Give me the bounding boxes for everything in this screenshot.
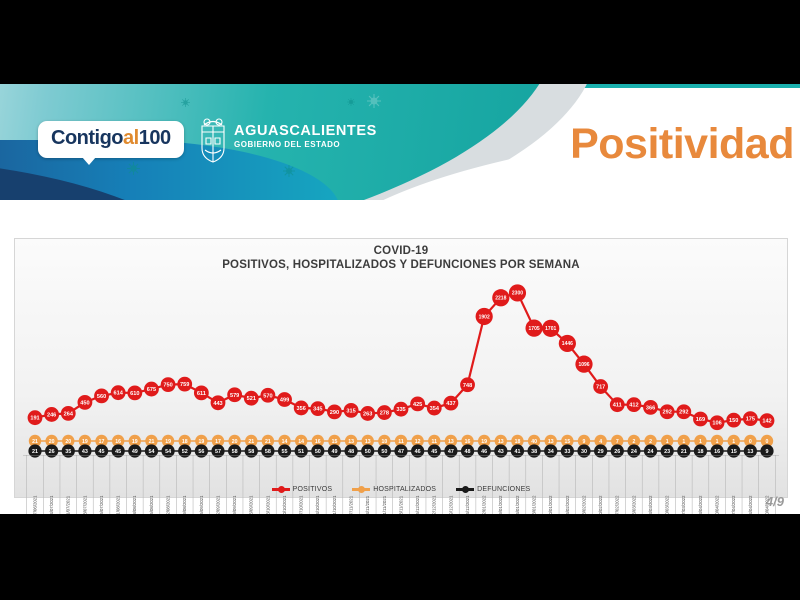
svg-text:366: 366 — [646, 405, 655, 411]
svg-text:14: 14 — [298, 439, 304, 445]
svg-text:437: 437 — [446, 401, 455, 407]
legend-item-defunciones[interactable]: DEFUNCIONES — [456, 486, 530, 493]
svg-text:7: 7 — [616, 439, 619, 445]
svg-text:1446: 1446 — [562, 341, 573, 347]
svg-text:290: 290 — [330, 410, 339, 416]
svg-text:1: 1 — [699, 439, 702, 445]
svg-text:21: 21 — [32, 439, 38, 445]
svg-text:292: 292 — [663, 410, 672, 416]
svg-text:2300: 2300 — [512, 291, 523, 297]
series-positivos: 1912462644505606146106757507596114435795… — [28, 284, 775, 430]
presentation-slide: Contigoal100 AGUASCALIENTES GOBIERNO DEL… — [0, 84, 800, 514]
svg-text:0: 0 — [749, 439, 752, 445]
svg-text:610: 610 — [130, 391, 139, 397]
svg-text:13: 13 — [548, 439, 554, 445]
svg-text:20: 20 — [232, 439, 238, 445]
svg-text:9: 9 — [583, 439, 586, 445]
slide-footer — [14, 498, 786, 512]
svg-text:499: 499 — [280, 397, 289, 403]
svg-text:106: 106 — [712, 421, 721, 427]
svg-text:191: 191 — [30, 416, 39, 422]
svg-text:759: 759 — [180, 382, 189, 388]
svg-text:19: 19 — [481, 439, 487, 445]
svg-text:21: 21 — [265, 439, 271, 445]
svg-text:20: 20 — [65, 439, 71, 445]
legend-label-defunciones: DEFUNCIONES — [477, 486, 530, 493]
svg-text:356: 356 — [297, 406, 306, 412]
svg-text:425: 425 — [413, 402, 422, 408]
svg-text:17: 17 — [215, 439, 221, 445]
svg-text:521: 521 — [247, 396, 256, 402]
svg-text:10: 10 — [381, 439, 387, 445]
svg-text:264: 264 — [64, 411, 74, 417]
svg-text:579: 579 — [230, 393, 239, 399]
svg-text:748: 748 — [463, 383, 472, 389]
svg-text:2218: 2218 — [495, 296, 506, 302]
chart-panel: COVID-19 POSITIVOS, HOSPITALIZADOS Y DEF… — [14, 238, 788, 498]
virus-icon — [181, 98, 190, 107]
chart-subtitle: POSITIVOS, HOSPITALIZADOS Y DEFUNCIONES … — [15, 259, 787, 271]
legend-swatch-hospitalizados — [352, 488, 370, 491]
svg-text:345: 345 — [313, 407, 322, 413]
virus-icon — [347, 98, 355, 106]
svg-text:16: 16 — [115, 439, 121, 445]
series-canvas: 2120201917161921191819172021211414161513… — [23, 283, 779, 459]
svg-text:354: 354 — [430, 406, 440, 412]
government-wordmark: AGUASCALIENTES GOBIERNO DEL ESTADO — [234, 124, 377, 150]
virus-icon — [283, 165, 295, 177]
svg-text:12: 12 — [415, 439, 421, 445]
svg-text:750: 750 — [163, 383, 172, 389]
legend-swatch-positivos — [272, 488, 290, 491]
svg-text:1705: 1705 — [529, 326, 540, 332]
svg-text:1: 1 — [682, 439, 685, 445]
chart-legend: POSITIVOS HOSPITALIZADOS DEFUNCIONES — [15, 486, 787, 493]
logo-text-100: 100 — [139, 127, 171, 149]
svg-text:19: 19 — [198, 439, 204, 445]
svg-text:21: 21 — [248, 439, 254, 445]
svg-text:1: 1 — [666, 439, 669, 445]
virus-icon — [367, 94, 381, 108]
svg-text:1096: 1096 — [578, 362, 589, 368]
legend-item-positivos[interactable]: POSITIVOS — [272, 486, 333, 493]
svg-text:21: 21 — [149, 439, 155, 445]
svg-text:19: 19 — [82, 439, 88, 445]
legend-label-hospitalizados: HOSPITALIZADOS — [373, 486, 436, 493]
svg-text:16: 16 — [465, 439, 471, 445]
chart-title-block: COVID-19 POSITIVOS, HOSPITALIZADOS Y DEF… — [15, 245, 787, 271]
svg-text:15: 15 — [332, 439, 338, 445]
svg-text:150: 150 — [729, 418, 738, 424]
svg-text:411: 411 — [613, 403, 622, 409]
svg-text:142: 142 — [762, 419, 771, 425]
svg-text:19: 19 — [132, 439, 138, 445]
svg-text:292: 292 — [679, 410, 688, 416]
svg-text:20: 20 — [49, 439, 55, 445]
svg-text:11: 11 — [398, 439, 404, 445]
svg-text:335: 335 — [396, 407, 405, 413]
svg-text:16: 16 — [315, 439, 321, 445]
svg-text:13: 13 — [498, 439, 504, 445]
svg-text:246: 246 — [47, 412, 56, 418]
svg-text:614: 614 — [114, 391, 124, 397]
legend-item-hospitalizados[interactable]: HOSPITALIZADOS — [352, 486, 436, 493]
chart-plot-area: 2120201917161921191819172021211414161513… — [23, 283, 779, 459]
svg-text:19: 19 — [165, 439, 171, 445]
slide-header-banner: Contigoal100 AGUASCALIENTES GOBIERNO DEL… — [0, 84, 800, 200]
svg-text:17: 17 — [99, 439, 105, 445]
svg-text:18: 18 — [182, 439, 188, 445]
svg-text:2: 2 — [649, 439, 652, 445]
svg-text:0: 0 — [766, 439, 769, 445]
svg-text:1: 1 — [716, 439, 719, 445]
svg-text:13: 13 — [365, 439, 371, 445]
virus-icon — [127, 162, 140, 175]
svg-text:169: 169 — [696, 417, 705, 423]
svg-text:263: 263 — [363, 411, 372, 417]
svg-text:4: 4 — [599, 439, 602, 445]
gov-subtitle-line: GOBIERNO DEL ESTADO — [234, 141, 377, 149]
aguascalientes-coat-of-arms-icon — [196, 114, 230, 166]
svg-text:560: 560 — [97, 394, 106, 400]
legend-label-positivos: POSITIVOS — [293, 486, 333, 493]
contigo-al-100-logo: Contigoal100 — [38, 121, 184, 158]
svg-text:315: 315 — [346, 408, 355, 414]
svg-text:2: 2 — [632, 439, 635, 445]
svg-text:675: 675 — [147, 387, 156, 393]
svg-text:14: 14 — [282, 439, 288, 445]
page-title: Positividad — [570, 120, 794, 169]
svg-text:1701: 1701 — [545, 326, 556, 332]
gov-name-line: AGUASCALIENTES — [234, 124, 377, 139]
svg-text:412: 412 — [629, 403, 638, 409]
svg-text:175: 175 — [746, 417, 755, 423]
page-number: 4/9 — [766, 494, 784, 509]
logo-text-contigo: Contigo — [51, 127, 123, 149]
svg-text:443: 443 — [213, 401, 222, 407]
svg-text:11: 11 — [432, 439, 438, 445]
svg-text:570: 570 — [263, 393, 272, 399]
svg-text:1902: 1902 — [479, 314, 490, 320]
svg-text:18: 18 — [515, 439, 521, 445]
legend-swatch-defunciones — [456, 488, 474, 491]
svg-text:1: 1 — [732, 439, 735, 445]
svg-text:13: 13 — [448, 439, 454, 445]
svg-text:13: 13 — [348, 439, 354, 445]
chart-title: COVID-19 — [15, 245, 787, 257]
svg-text:450: 450 — [80, 400, 89, 406]
svg-text:611: 611 — [197, 391, 206, 397]
svg-text:15: 15 — [564, 439, 570, 445]
svg-text:717: 717 — [596, 385, 605, 391]
svg-text:278: 278 — [380, 411, 389, 417]
svg-text:40: 40 — [531, 439, 537, 445]
logo-text-al: al — [123, 127, 139, 149]
